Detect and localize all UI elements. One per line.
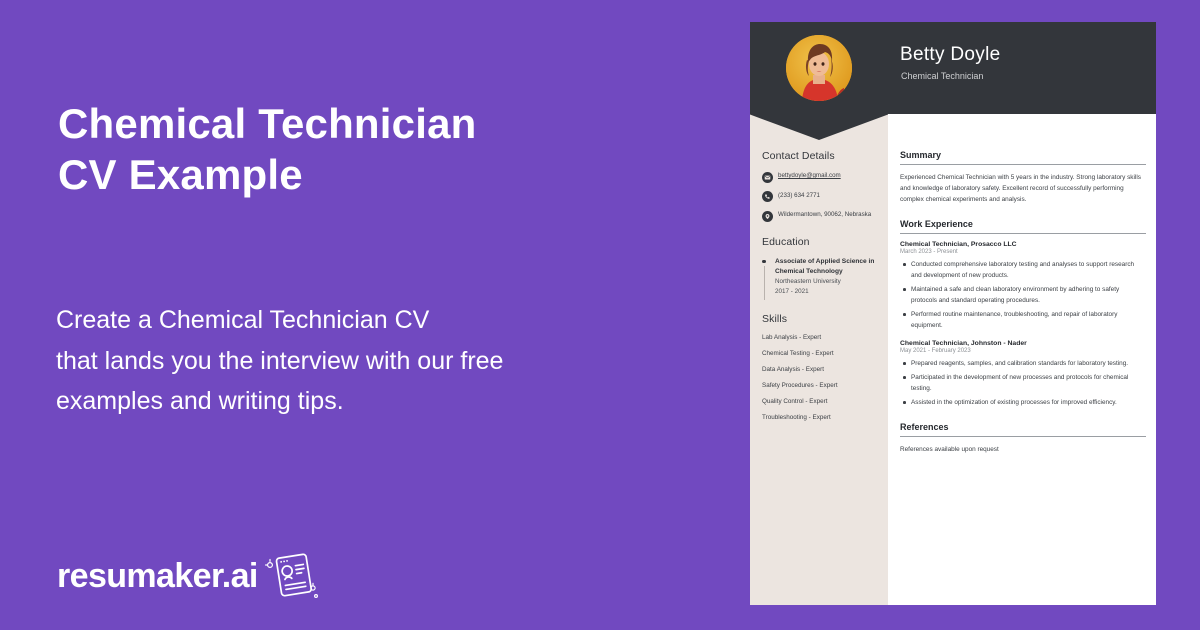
job-entry: Chemical Technician, Johnston - Nader Ma… — [900, 340, 1146, 408]
job-bullet: Maintained a safe and clean laboratory e… — [900, 284, 1146, 306]
page-title: Chemical Technician CV Example — [58, 98, 678, 200]
summary-text: Experienced Chemical Technician with 5 y… — [900, 172, 1146, 205]
timeline-line — [764, 266, 765, 300]
cv-sidebar-content: Contact Details bettydoyle@gmail.com (23… — [762, 150, 880, 430]
cv-main-content: Summary Experienced Chemical Technician … — [900, 150, 1146, 469]
contact-address[interactable]: Wildermantown, 90062, Nebraska — [762, 210, 880, 222]
headline-line-2: CV Example — [58, 149, 678, 200]
job-bullet: Prepared reagents, samples, and calibrat… — [900, 358, 1146, 369]
education-heading: Education — [762, 236, 880, 248]
job-dates: May 2021 - February 2023 — [900, 348, 1146, 354]
skill-item: Safety Procedures - Expert — [762, 382, 880, 389]
education-item: Associate of Applied Science in Chemical… — [762, 257, 880, 298]
location-pin-icon — [762, 211, 773, 222]
headline-line-1: Chemical Technician — [58, 98, 678, 149]
references-heading: References — [900, 422, 1146, 437]
references-text: References available upon request — [900, 444, 1146, 455]
skills-heading: Skills — [762, 313, 880, 325]
logo-wordmark: resumaker.ai — [57, 559, 258, 593]
education-years: 2017 - 2021 — [775, 287, 880, 297]
avatar — [786, 35, 852, 101]
summary-heading: Summary — [900, 150, 1146, 165]
skill-item: Troubleshooting - Expert — [762, 414, 880, 421]
subtitle-line-3: examples and writing tips. — [56, 381, 656, 422]
timeline-dot-icon — [762, 260, 766, 264]
job-bullet: Conducted comprehensive laboratory testi… — [900, 259, 1146, 281]
job-bullet: Performed routine maintenance, troublesh… — [900, 309, 1146, 331]
contact-email-text: bettydoyle@gmail.com — [778, 171, 841, 181]
skill-item: Data Analysis - Expert — [762, 366, 880, 373]
job-title: Chemical Technician, Prosacco LLC — [900, 241, 1146, 248]
subtitle-line-1: Create a Chemical Technician CV — [56, 300, 656, 341]
job-bullet-list: Prepared reagents, samples, and calibrat… — [900, 358, 1146, 408]
promo-subtitle: Create a Chemical Technician CV that lan… — [56, 300, 656, 422]
education-degree: Associate of Applied Science in Chemical… — [775, 257, 880, 277]
job-bullet: Participated in the development of new p… — [900, 372, 1146, 394]
skill-item: Lab Analysis - Expert — [762, 334, 880, 341]
skills-section: Skills Lab Analysis - Expert Chemical Te… — [762, 313, 880, 421]
summary-section: Summary Experienced Chemical Technician … — [900, 150, 1146, 205]
envelope-icon — [762, 172, 773, 183]
contact-address-text: Wildermantown, 90062, Nebraska — [778, 210, 871, 220]
subtitle-line-2: that lands you the interview with our fr… — [56, 341, 656, 382]
cv-document-preview[interactable]: Betty Doyle Chemical Technician Contact … — [750, 22, 1156, 605]
job-bullet: Assisted in the optimization of existing… — [900, 397, 1146, 408]
job-entry: Chemical Technician, Prosacco LLC March … — [900, 241, 1146, 331]
contact-phone-text: (233) 634 2771 — [778, 191, 820, 201]
promo-panel: Chemical Technician CV Example Create a … — [0, 0, 750, 630]
resume-document-icon — [264, 548, 320, 604]
contact-phone[interactable]: (233) 634 2771 — [762, 191, 880, 203]
job-title: Chemical Technician, Johnston - Nader — [900, 340, 1146, 347]
phone-icon — [762, 191, 773, 202]
work-experience-heading: Work Experience — [900, 219, 1146, 234]
references-section: References References available upon req… — [900, 422, 1146, 455]
job-bullet-list: Conducted comprehensive laboratory testi… — [900, 259, 1146, 331]
resumaker-logo[interactable]: resumaker.ai — [57, 548, 320, 604]
skill-item: Chemical Testing - Expert — [762, 350, 880, 357]
contact-details-heading: Contact Details — [762, 150, 880, 162]
contact-email[interactable]: bettydoyle@gmail.com — [762, 171, 880, 183]
job-dates: March 2023 - Present — [900, 249, 1146, 255]
education-section: Education Associate of Applied Science i… — [762, 236, 880, 298]
education-school: Northeastern University — [775, 277, 880, 287]
cv-candidate-name: Betty Doyle — [900, 44, 1000, 66]
work-experience-section: Work Experience Chemical Technician, Pro… — [900, 219, 1146, 408]
cv-candidate-role: Chemical Technician — [901, 71, 983, 81]
skill-item: Quality Control - Expert — [762, 398, 880, 405]
